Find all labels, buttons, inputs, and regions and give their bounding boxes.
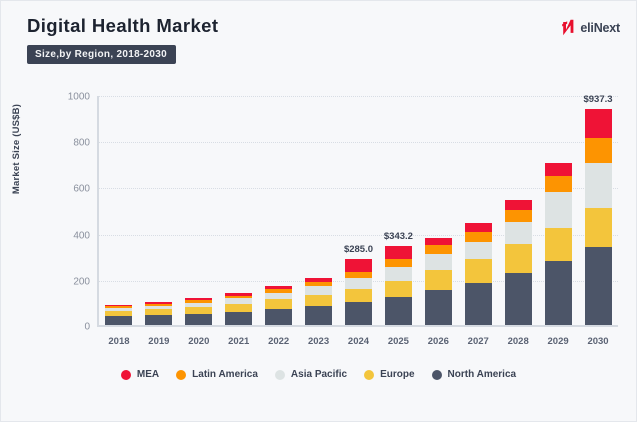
bar-segment-latin-america[interactable] [385,259,412,267]
elinext-n-mark-icon [562,19,575,36]
x-axis-tick: 2024 [348,336,369,347]
x-axis-tick: 2026 [428,336,449,347]
bar-segment-europe[interactable] [425,270,452,290]
bar-segment-north-america[interactable] [225,312,252,325]
bar-segment-europe[interactable] [345,289,372,302]
bar-column[interactable]: 2023 [299,96,339,325]
bar-segment-north-america[interactable] [425,290,452,325]
bar-column[interactable]: 2026 [418,96,458,325]
stacked-bar[interactable] [465,223,492,325]
x-axis-tick: 2029 [548,336,569,347]
legend-item-mea[interactable]: MEA [121,369,159,380]
x-axis-tick: 2027 [468,336,489,347]
bar-column[interactable]: 2019 [139,96,179,325]
bar-column[interactable]: $937.32030 [578,96,618,325]
bar-segment-latin-america[interactable] [425,245,452,254]
bar-value-label: $285.0 [344,244,373,255]
stacked-bar[interactable] [225,293,252,325]
bar-segment-asia-pacific[interactable] [505,222,532,244]
bar-column[interactable]: 2020 [179,96,219,325]
bar-segment-europe[interactable] [545,228,572,261]
stacked-bar[interactable] [505,200,532,325]
bar-segment-latin-america[interactable] [545,176,572,192]
chart-plot-area: Market Size (US$B) 02004006008001000 201… [1,79,637,361]
bar-segment-north-america[interactable] [465,283,492,325]
bar-segment-asia-pacific[interactable] [385,267,412,281]
bar-series-group: 201820192020202120222023$285.02024$343.2… [99,96,618,325]
legend-label: Asia Pacific [291,369,347,380]
bar-column[interactable]: 2028 [498,96,538,325]
legend-item-north-america[interactable]: North America [432,369,517,380]
bar-segment-latin-america[interactable] [465,232,492,242]
stacked-bar[interactable]: $343.2 [385,246,412,325]
bar-segment-asia-pacific[interactable] [545,192,572,227]
legend-item-europe[interactable]: Europe [364,369,414,380]
bar-segment-north-america[interactable] [385,297,412,325]
x-axis-tick: 2025 [388,336,409,347]
bar-segment-north-america[interactable] [545,261,572,325]
x-axis-tick: 2022 [268,336,289,347]
bar-column[interactable]: 2022 [259,96,299,325]
bar-segment-north-america[interactable] [305,306,332,325]
page-title: Digital Health Market [27,15,622,37]
bar-segment-north-america[interactable] [585,247,612,325]
legend-item-latin-america[interactable]: Latin America [176,369,258,380]
legend-swatch-icon [275,370,285,380]
bar-segment-mea[interactable] [505,200,532,210]
bar-column[interactable]: 2018 [99,96,139,325]
bar-value-label: $937.3 [583,94,612,105]
legend-swatch-icon [176,370,186,380]
stacked-bar[interactable] [265,286,292,325]
legend-swatch-icon [432,370,442,380]
x-axis-tick: 2020 [188,336,209,347]
x-axis-tick: 2030 [587,336,608,347]
x-axis-tick: 2021 [228,336,249,347]
stacked-bar[interactable] [545,163,572,325]
bar-segment-north-america[interactable] [505,273,532,325]
plot-canvas: 02004006008001000 2018201920202021202220… [97,96,618,327]
bar-segment-asia-pacific[interactable] [265,293,292,300]
bar-segment-europe[interactable] [505,244,532,274]
y-axis-tick: 400 [73,230,90,241]
stacked-bar[interactable]: $937.3 [585,109,612,325]
bar-segment-asia-pacific[interactable] [465,242,492,260]
bar-segment-north-america[interactable] [105,316,132,325]
chart-card: Digital Health Market Size,by Region, 20… [0,0,637,422]
legend-swatch-icon [121,370,131,380]
y-axis-tick: 0 [84,322,90,333]
bar-segment-latin-america[interactable] [585,138,612,163]
bar-segment-mea[interactable] [425,238,452,246]
bar-segment-mea[interactable] [545,163,572,176]
bar-segment-north-america[interactable] [145,315,172,325]
bar-segment-latin-america[interactable] [505,210,532,222]
bar-segment-asia-pacific[interactable] [425,254,452,269]
bar-segment-europe[interactable] [385,281,412,297]
bar-segment-mea[interactable] [585,109,612,138]
bar-column[interactable]: 2029 [538,96,578,325]
chart-subtitle-badge: Size,by Region, 2018-2030 [27,45,176,64]
legend-label: Europe [380,369,414,380]
y-axis-tick: 600 [73,184,90,195]
bar-column[interactable]: $343.22025 [378,96,418,325]
bar-segment-asia-pacific[interactable] [585,163,612,208]
legend-label: North America [448,369,517,380]
bar-segment-asia-pacific[interactable] [305,286,332,295]
y-axis-tick: 200 [73,276,90,287]
bar-segment-mea[interactable] [385,246,412,259]
bar-segment-asia-pacific[interactable] [345,278,372,289]
brand-logo-text: eliNext [580,21,620,35]
stacked-bar[interactable] [425,238,452,325]
chart-legend: MEALatin AmericaAsia PacificEuropeNorth … [1,369,636,380]
bar-segment-europe[interactable] [465,259,492,283]
legend-label: Latin America [192,369,258,380]
y-axis-label: Market Size (US$B) [11,84,22,214]
bar-segment-north-america[interactable] [345,302,372,325]
x-axis-tick: 2023 [308,336,329,347]
stacked-bar[interactable]: $285.0 [345,259,372,325]
bar-column[interactable]: 2027 [458,96,498,325]
bar-column[interactable]: 2021 [219,96,259,325]
chart-header: Digital Health Market Size,by Region, 20… [27,15,622,69]
legend-swatch-icon [364,370,374,380]
bar-segment-mea[interactable] [345,259,372,272]
stacked-bar[interactable] [185,298,212,325]
stacked-bar[interactable] [145,302,172,325]
legend-item-asia-pacific[interactable]: Asia Pacific [275,369,347,380]
brand-logo: eliNext [562,19,620,36]
bar-segment-north-america[interactable] [265,309,292,325]
x-axis-tick: 2019 [148,336,169,347]
stacked-bar[interactable] [105,305,132,325]
bar-segment-europe[interactable] [265,299,292,308]
bar-segment-north-america[interactable] [185,314,212,325]
bar-column[interactable]: $285.02024 [339,96,379,325]
bar-segment-europe[interactable] [225,304,252,312]
bar-segment-europe[interactable] [585,208,612,247]
bar-segment-europe[interactable] [185,307,212,314]
y-axis-tick: 1000 [68,92,90,103]
y-axis-tick: 800 [73,138,90,149]
bar-segment-mea[interactable] [465,223,492,232]
bar-value-label: $343.2 [384,231,413,242]
x-axis-tick: 2028 [508,336,529,347]
stacked-bar[interactable] [305,278,332,325]
x-axis-tick: 2018 [108,336,129,347]
legend-label: MEA [137,369,159,380]
bar-segment-europe[interactable] [305,295,332,306]
